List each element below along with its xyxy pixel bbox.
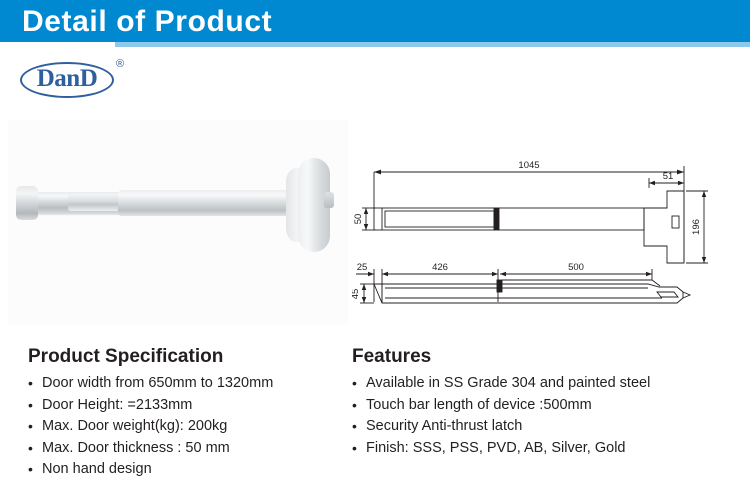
technical-drawing: 1045 51 50 196 25	[352, 150, 748, 315]
product-specification-section: Product Specification Door width from 65…	[28, 345, 358, 481]
dim-bar-height: 50	[353, 214, 364, 225]
dim-head-height: 196	[691, 219, 702, 235]
list-item: Non hand design	[28, 459, 358, 481]
dim-end-offset: 25	[357, 262, 368, 273]
dim-side-height: 45	[352, 289, 361, 300]
push-bar-end-cap	[16, 186, 38, 220]
list-item: Security Anti-thrust latch	[352, 416, 747, 438]
list-item: Door Height: =2133mm	[28, 395, 358, 417]
specification-title: Product Specification	[28, 345, 358, 369]
list-item: Max. Door thickness : 50 mm	[28, 438, 358, 460]
push-bar-latch-nub	[324, 192, 334, 208]
list-item: Available in SS Grade 304 and painted st…	[352, 373, 747, 395]
list-item: Door width from 650mm to 1320mm	[28, 373, 358, 395]
page-header-underline	[115, 42, 750, 47]
features-list: Available in SS Grade 304 and painted st…	[352, 373, 747, 459]
push-bar-touchpad	[118, 190, 308, 216]
dim-segment-a: 426	[432, 262, 448, 273]
registered-trademark-icon: ®	[116, 58, 124, 70]
brand-logo: DanD ®	[20, 56, 150, 104]
specification-list: Door width from 650mm to 1320mm Door Hei…	[28, 373, 358, 481]
list-item: Touch bar length of device :500mm	[352, 395, 747, 417]
dim-overall-length: 1045	[518, 160, 539, 171]
dim-head-depth: 51	[663, 171, 674, 182]
product-photo: D&D Hardware Industrial Co., Ltd 12 year…	[8, 120, 348, 325]
dim-segment-b: 500	[568, 262, 584, 273]
features-section: Features Available in SS Grade 304 and p…	[352, 345, 747, 459]
logo-wordmark: DanD	[20, 62, 114, 98]
page-title: Detail of Product	[22, 3, 272, 41]
list-item: Max. Door weight(kg): 200kg	[28, 416, 358, 438]
list-item: Finish: SSS, PSS, PVD, AB, Silver, Gold	[352, 438, 747, 460]
features-title: Features	[352, 345, 747, 369]
